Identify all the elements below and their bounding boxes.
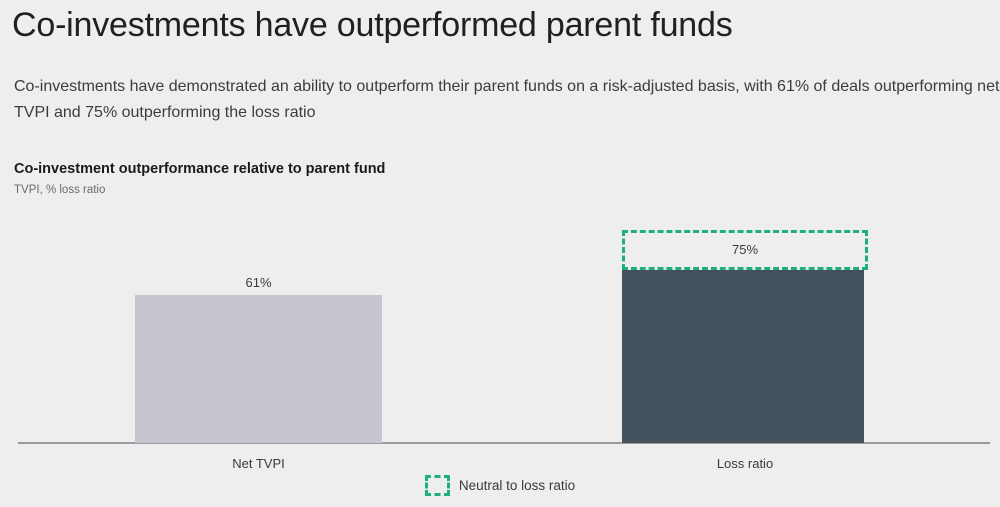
x-axis-tick-label-net-tvpi: Net TVPI: [135, 456, 382, 471]
bar-value-label-loss-ratio: 75%: [622, 242, 868, 257]
legend-item-label-neutral-to-loss-ratio: Neutral to loss ratio: [459, 478, 575, 493]
chart-plot-area: 61% Net TVPI 75% Loss ratio: [0, 0, 1000, 507]
x-axis-tick-label-loss-ratio: Loss ratio: [622, 456, 868, 471]
slide-canvas: Co-investments have outperformed parent …: [0, 0, 1000, 507]
bar-value-label-net-tvpi: 61%: [135, 275, 382, 290]
chart-legend: Neutral to loss ratio: [0, 475, 1000, 496]
bar-net-tvpi[interactable]: [135, 295, 382, 443]
dashed-square-icon: [425, 475, 450, 496]
bar-loss-ratio[interactable]: [622, 270, 864, 443]
